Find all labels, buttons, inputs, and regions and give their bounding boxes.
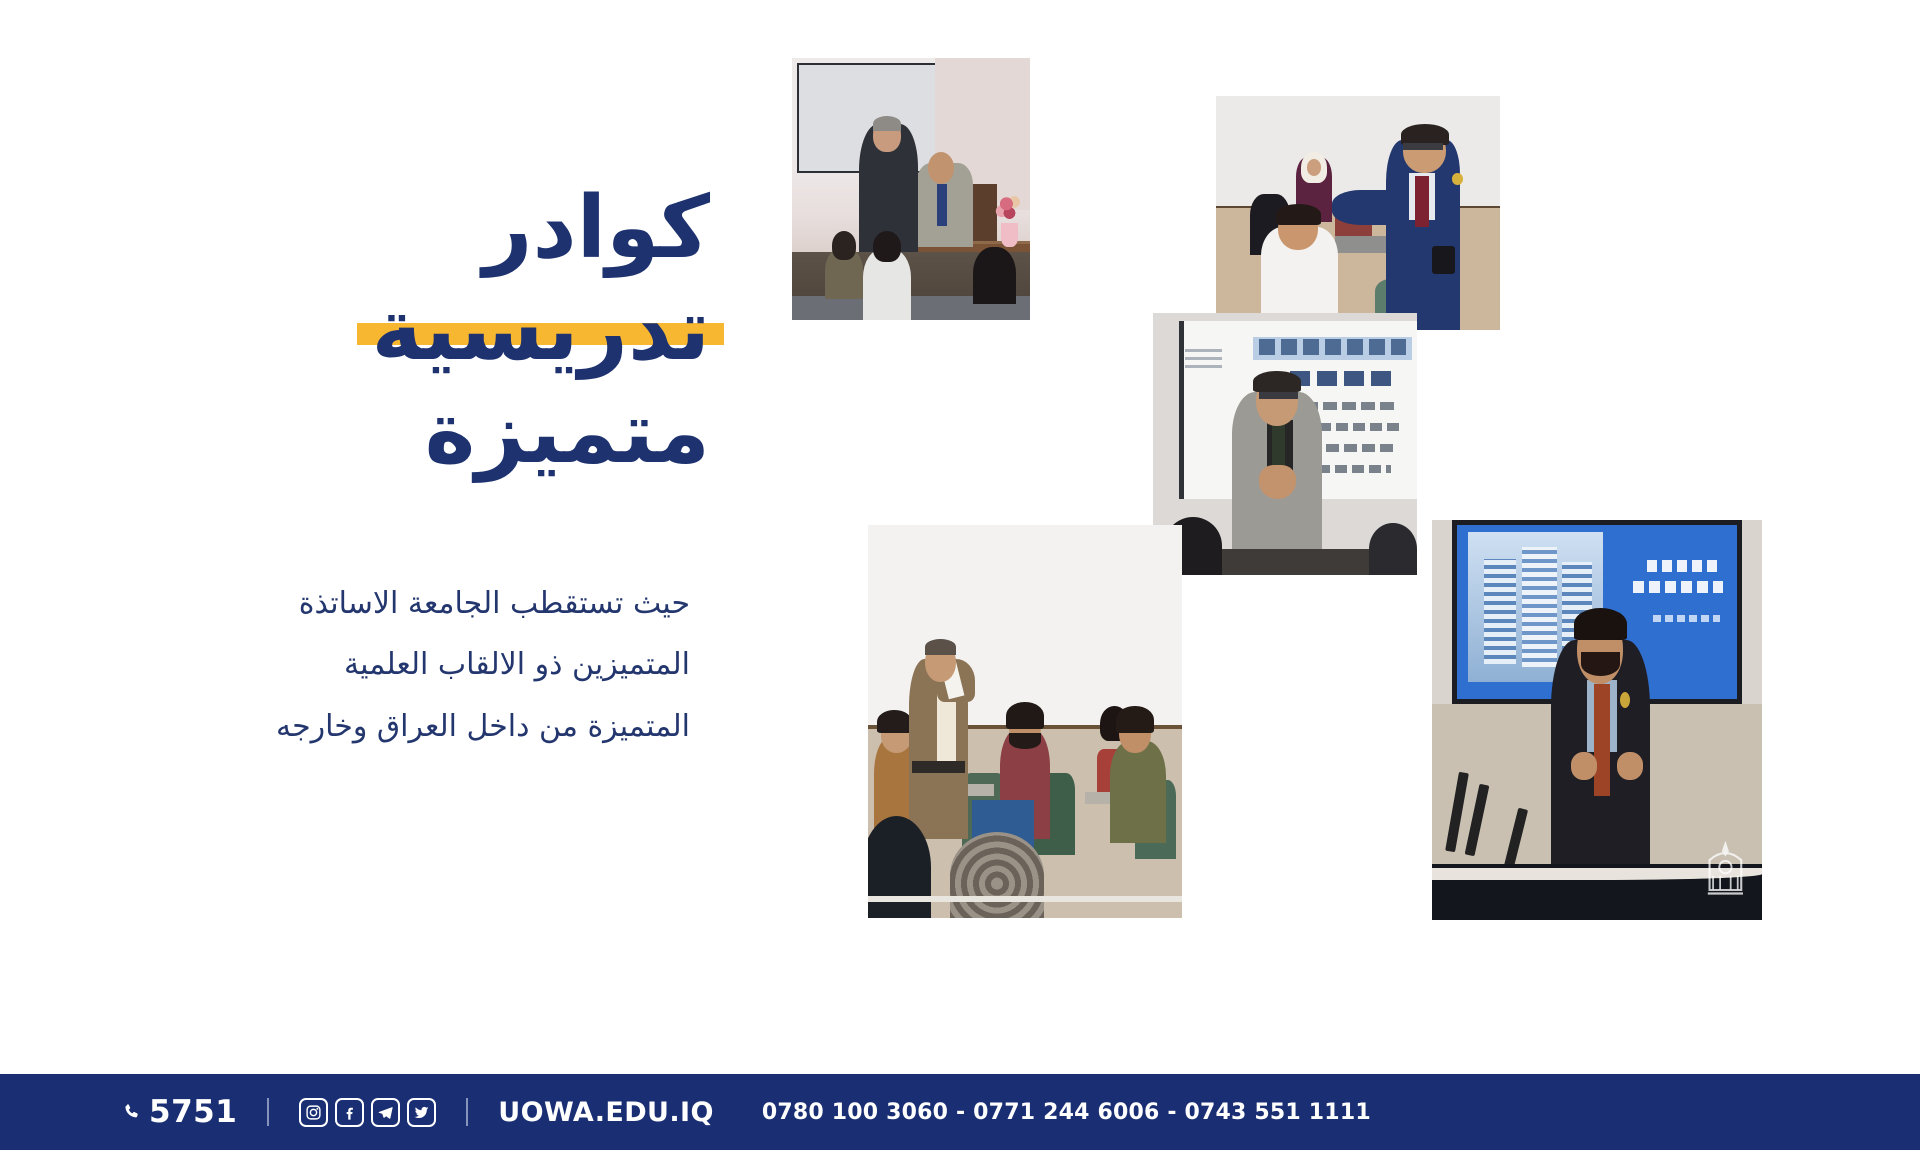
university-watermark-logo (1699, 832, 1752, 904)
highlighted-word: تدريسية (371, 282, 710, 378)
footer-hotline[interactable]: 5751 (122, 1094, 237, 1130)
photo-2-image (1216, 96, 1500, 330)
photo-3-image (1153, 313, 1417, 575)
photo-professor-with-students (1216, 96, 1500, 330)
facebook-glyph (341, 1104, 358, 1121)
instagram-icon[interactable] (299, 1098, 328, 1127)
photo-4-image (868, 525, 1182, 918)
facebook-icon[interactable] (335, 1098, 364, 1127)
footer-separator-2 (466, 1098, 468, 1126)
photo-faculty-at-desk (792, 58, 1030, 320)
footer-website-link[interactable]: UOWA.EDU.IQ (498, 1097, 714, 1128)
telegram-glyph (377, 1104, 394, 1121)
footer-phone-numbers: 0780 100 3060 - 0771 244 6006 - 0743 551… (762, 1100, 1371, 1125)
footer-separator-1 (267, 1098, 269, 1126)
poster-canvas: كوادر تدريسية متميزة حيث تستقطب الجامعة … (0, 0, 1920, 1150)
phone-handset-icon (122, 1101, 142, 1123)
instagram-glyph (305, 1104, 322, 1121)
photo-speaker-at-display (1432, 520, 1762, 920)
footer-hotline-number: 5751 (149, 1094, 237, 1130)
telegram-icon[interactable] (371, 1098, 400, 1127)
photo-5-image (1432, 520, 1762, 920)
photo-lecturer-with-slide (1153, 313, 1417, 575)
footer-bar: 5751 (0, 1074, 1920, 1150)
headline-line-2: تدريسية (371, 280, 710, 380)
photo-1-image (792, 58, 1030, 320)
twitter-glyph (413, 1104, 430, 1121)
footer-content: 5751 (0, 1094, 1371, 1130)
social-links (299, 1098, 436, 1127)
photo-classroom-discussion (868, 525, 1182, 918)
photo-collage (0, 0, 1920, 1150)
twitter-icon[interactable] (407, 1098, 436, 1127)
